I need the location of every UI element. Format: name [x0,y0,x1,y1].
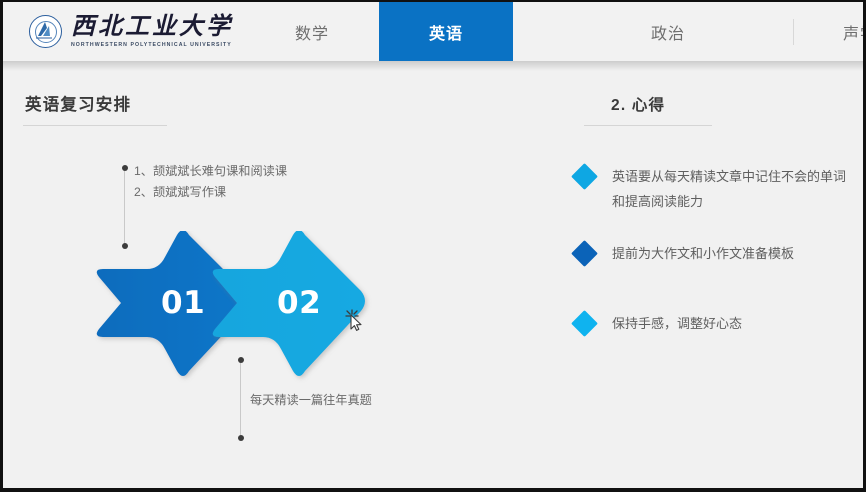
left-bottom-note: 每天精读一篇往年真题 [250,390,372,408]
process-arrows: 01 02 [95,231,395,383]
connector-dot [238,435,244,441]
left-heading-rule [23,125,167,126]
university-brand: 西北工业大学 NORTHWESTERN POLYTECHNICAL UNIVER… [3,2,233,61]
university-name: 西北工业大学 NORTHWESTERN POLYTECHNICAL UNIVER… [71,15,233,48]
tab-english[interactable]: 英语 [379,2,513,61]
left-note-item: 2、颉斌斌写作课 [134,182,287,203]
university-name-en: NORTHWESTERN POLYTECHNICAL UNIVERSITY [71,42,233,48]
presentation-window: 西北工业大学 NORTHWESTERN POLYTECHNICAL UNIVER… [0,0,866,492]
subject-tabs: 数学 英语 政治 声学基础 [233,2,866,61]
diamond-bullet-icon [571,240,598,267]
insight-bullet-text: 提前为大作文和小作文准备模板 [612,241,794,266]
insight-bullet-text: 保持手感，调整好心态 [612,311,742,336]
arrow-number-01: 01 [161,285,205,321]
diamond-bullet-icon [571,310,598,337]
right-section-heading: 2. 心得 [611,93,665,115]
insight-bullet: 英语要从每天精读文章中记住不会的单词和提高阅读能力 [575,164,852,214]
tab-politics[interactable]: 政治 [601,2,735,61]
university-seal-icon [29,15,62,48]
tab-acoustics[interactable]: 声学基础 [810,2,866,61]
left-note-item: 1、颉斌斌长难句课和阅读课 [134,161,287,182]
diamond-bullet-icon [571,163,598,190]
tab-math[interactable]: 数学 [245,2,379,61]
right-heading-rule [584,125,712,126]
insight-bullet-text: 英语要从每天精读文章中记住不会的单词和提高阅读能力 [612,164,852,214]
connector-dot [122,165,128,171]
app-header: 西北工业大学 NORTHWESTERN POLYTECHNICAL UNIVER… [3,2,863,61]
left-note-list: 1、颉斌斌长难句课和阅读课 2、颉斌斌写作课 [134,161,287,203]
arrow-number-02: 02 [277,285,321,321]
left-section-heading: 英语复习安排 [25,91,131,115]
university-name-cn: 西北工业大学 [71,15,233,40]
insight-bullet: 保持手感，调整好心态 [575,311,742,336]
insight-bullet: 提前为大作文和小作文准备模板 [575,241,794,266]
slide-canvas: 英语复习安排 1、颉斌斌长难句课和阅读课 2、颉斌斌写作课 每天精读一篇往年真题 [3,61,863,488]
tab-divider [793,19,794,45]
